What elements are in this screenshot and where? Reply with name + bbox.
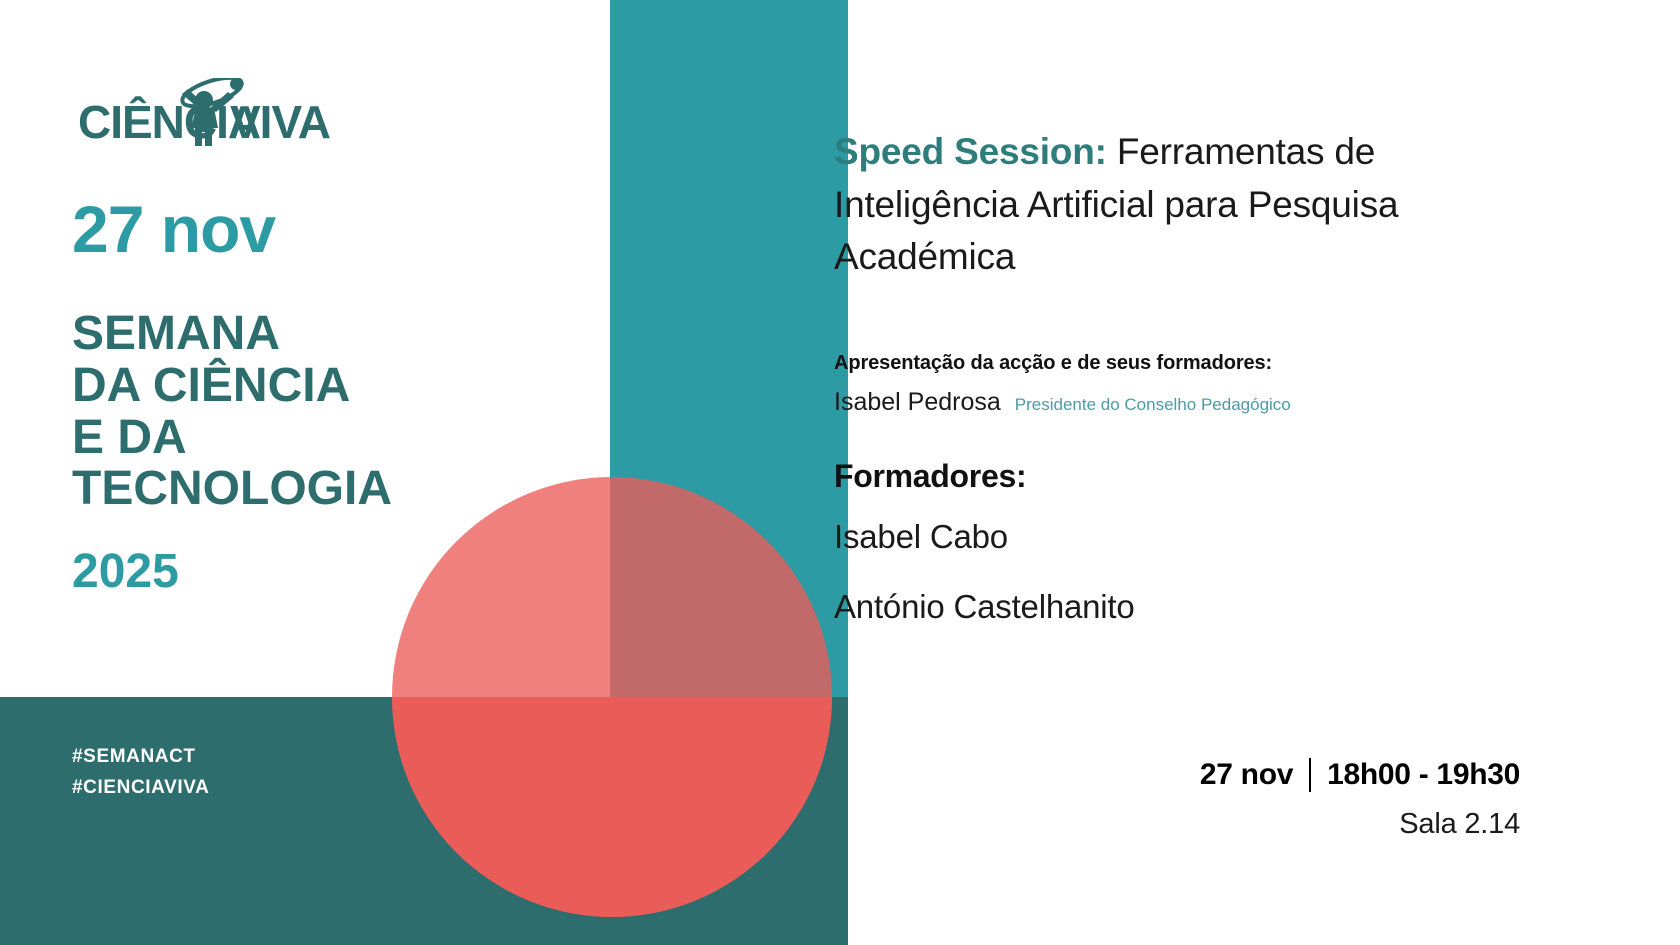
session-title: Speed Session: Ferramentas de Inteligênc… xyxy=(834,126,1494,284)
trainers-heading: Formadores: xyxy=(834,458,1026,495)
event-year: 2025 xyxy=(72,546,179,598)
presenter-role: Presidente do Conselho Pedagógico xyxy=(1015,395,1291,415)
event-title-line-3: E DA xyxy=(72,412,392,464)
right-info-panel: Speed Session: Ferramentas de Inteligênc… xyxy=(848,0,1680,945)
left-branding-panel: CIÊNCIA VIVA 27 nov SEMANA DA CIÊNCIA E … xyxy=(0,0,848,945)
datetime-separator xyxy=(1309,758,1311,792)
session-label: Speed Session: xyxy=(834,131,1107,172)
event-poster: CIÊNCIA VIVA 27 nov SEMANA DA CIÊNCIA E … xyxy=(0,0,1680,945)
svg-text:VIVA: VIVA xyxy=(230,96,330,148)
ciencia-viva-logo-icon: CIÊNCIA VIVA xyxy=(78,78,378,150)
session-room: Sala 2.14 xyxy=(1399,808,1520,841)
trainer-name-2: António Castelhanito xyxy=(834,588,1135,626)
event-title-line-2: DA CIÊNCIA xyxy=(72,360,392,412)
event-title: SEMANA DA CIÊNCIA E DA TECNOLOGIA xyxy=(72,308,392,515)
left-panel-content: CIÊNCIA VIVA 27 nov SEMANA DA CIÊNCIA E … xyxy=(0,0,848,945)
session-date: 27 nov xyxy=(1200,758,1293,792)
hashtag-semanact: #SEMANACT xyxy=(72,742,209,773)
event-title-line-4: TECNOLOGIA xyxy=(72,463,392,515)
session-time: 18h00 - 19h30 xyxy=(1327,758,1520,792)
hashtag-group: #SEMANACT #CIENCIAVIVA xyxy=(72,742,209,804)
poster-date: 27 nov xyxy=(72,196,275,262)
trainer-name-1: Isabel Cabo xyxy=(834,518,1008,556)
presentation-heading: Apresentação da acção e de seus formador… xyxy=(834,352,1272,375)
session-datetime: 27 nov 18h00 - 19h30 xyxy=(1200,758,1520,792)
presenter-row: Isabel Pedrosa Presidente do Conselho Pe… xyxy=(834,388,1291,417)
hashtag-cienciaviva: #CIENCIAVIVA xyxy=(72,773,209,804)
event-title-line-1: SEMANA xyxy=(72,308,392,360)
ciencia-viva-logo: CIÊNCIA VIVA xyxy=(78,78,378,150)
presenter-name: Isabel Pedrosa xyxy=(834,388,1001,417)
